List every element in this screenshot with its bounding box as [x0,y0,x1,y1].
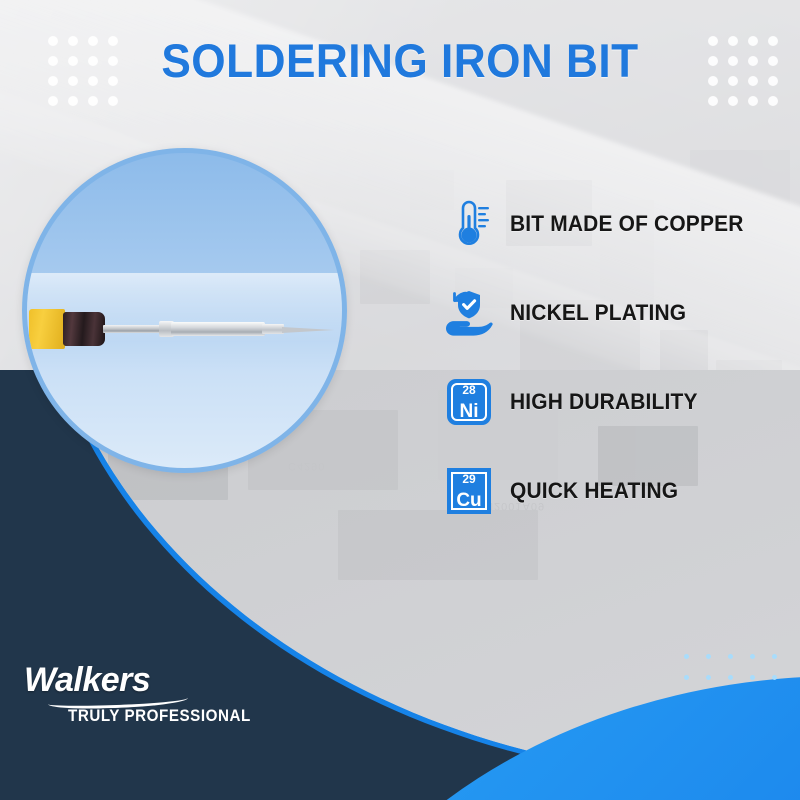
feature-list: BIT MADE OF COPPER NICKEL PLATING 28 [444,196,784,552]
element-symbol: Ni [447,402,491,422]
soldering-iron-bit-illustration [22,303,347,355]
yellow-connector-block [29,309,65,349]
feature-label: HIGH DURABILITY [510,389,698,415]
feature-row: NICKEL PLATING [444,285,784,341]
dot-grid-bottom-right-icon [684,654,794,680]
page-title: SOLDERING IRON BIT [24,36,776,86]
black-ribbed-ferrule [63,312,105,346]
feature-row: 29 Cu QUICK HEATING [444,463,784,519]
hand-shield-check-icon [444,286,494,340]
periodic-tile-ni: 28 Ni [447,379,491,425]
element-number: 29 [447,473,491,485]
feature-row: 28 Ni HIGH DURABILITY [444,374,784,430]
header-band: SOLDERING IRON BIT [0,0,800,120]
periodic-tile-cu: 29 Cu [447,468,491,514]
feature-label: NICKEL PLATING [510,300,686,326]
feature-row: BIT MADE OF COPPER [444,196,784,252]
brand-tagline: TRULY PROFESSIONAL [68,707,276,726]
product-image-circle [22,148,347,473]
feature-label: QUICK HEATING [510,478,678,504]
shaft-barrel-secondary [262,324,284,334]
shaft-barrel [171,322,265,336]
tapered-point-tip [282,327,334,333]
element-tile-nickel-icon: 28 Ni [444,375,494,429]
thermometer-icon [444,197,494,251]
element-tile-copper-icon: 29 Cu [444,464,494,518]
element-number: 28 [447,384,491,396]
brand-logo: Walkers TRULY PROFESSIONAL [24,662,294,726]
product-infographic-poster: C4290 R2 C282 PAM2001A09 02 LE9XX U01 C6… [0,0,800,800]
feature-label: BIT MADE OF COPPER [510,211,744,237]
element-symbol: Cu [447,491,491,511]
